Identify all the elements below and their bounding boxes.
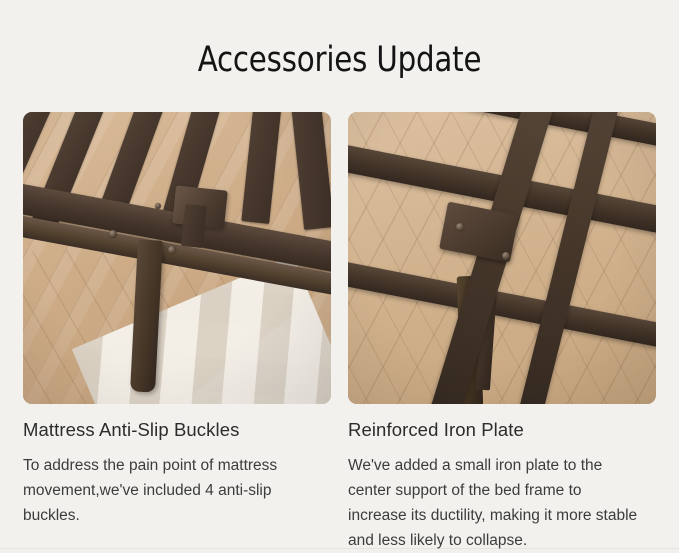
- reinforced-iron-plate-photo: [348, 112, 656, 404]
- page-title: Accessories Update: [24, 38, 655, 82]
- card-body-reinforced-iron-plate: We've added a small iron plate to the ce…: [348, 453, 640, 553]
- feature-card-reinforced-iron-plate: Reinforced Iron Plate We've added a smal…: [348, 112, 656, 553]
- area-rug-edge: [181, 284, 331, 404]
- feature-card-mattress-anti-slip-buckles: Mattress Anti-Slip Buckles To address th…: [23, 112, 331, 528]
- screw-icon: [456, 223, 464, 231]
- mattress-anti-slip-buckles-photo: [23, 112, 331, 404]
- card-body-mattress-anti-slip-buckles: To address the pain point of mattress mo…: [23, 453, 315, 528]
- card-heading-mattress-anti-slip-buckles: Mattress Anti-Slip Buckles: [23, 418, 331, 442]
- accessories-update-page: Accessories Update Mattress Ant: [0, 0, 679, 549]
- card-heading-reinforced-iron-plate: Reinforced Iron Plate: [348, 418, 656, 442]
- screw-icon: [155, 203, 161, 209]
- anti-slip-buckle-tab: [181, 204, 207, 248]
